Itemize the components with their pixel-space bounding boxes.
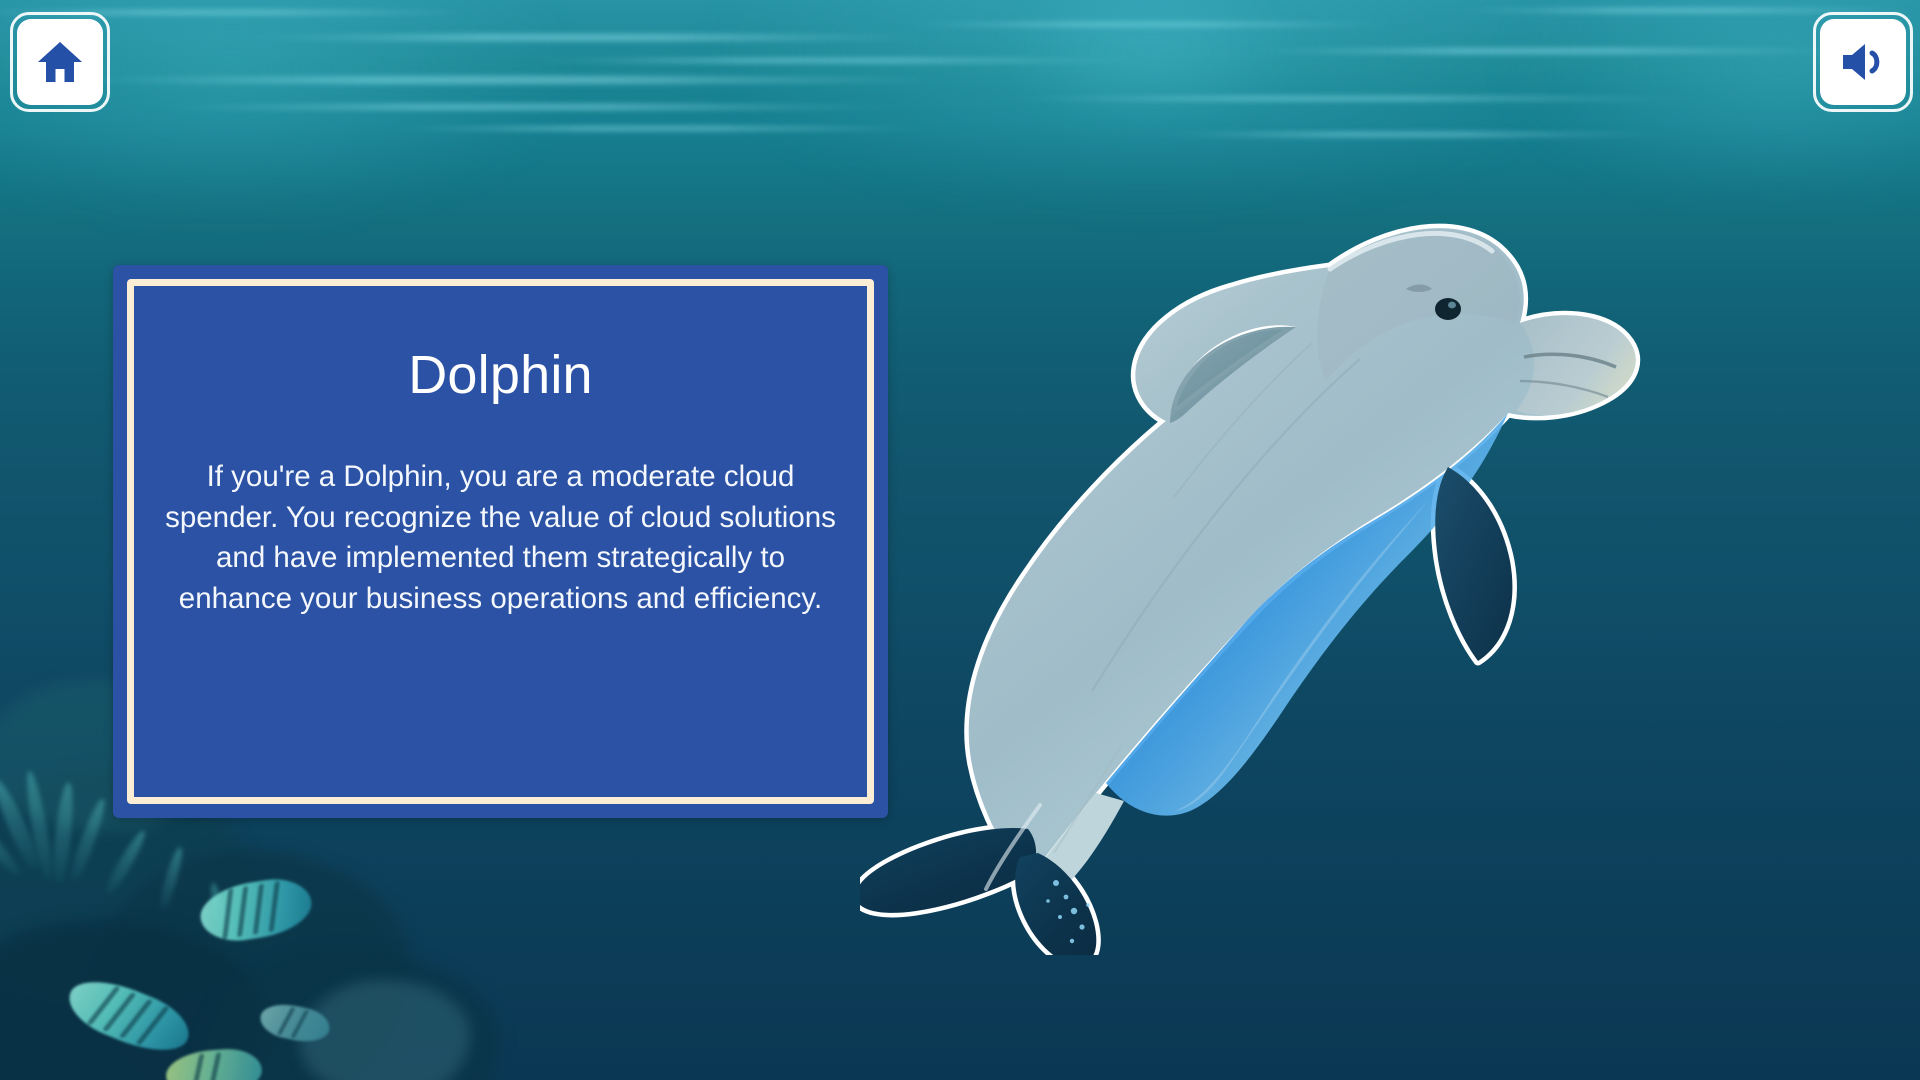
info-card: Dolphin If you're a Dolphin, you are a m… bbox=[113, 265, 888, 818]
volume-on-icon bbox=[1839, 41, 1887, 83]
page-title: Dolphin bbox=[158, 346, 843, 405]
info-card-inner: Dolphin If you're a Dolphin, you are a m… bbox=[127, 279, 874, 804]
fish-3 bbox=[165, 1047, 264, 1080]
volume-button[interactable] bbox=[1820, 19, 1906, 105]
card-description: If you're a Dolphin, you are a moderate … bbox=[158, 457, 843, 619]
home-button[interactable] bbox=[17, 19, 103, 105]
home-icon bbox=[37, 41, 83, 83]
